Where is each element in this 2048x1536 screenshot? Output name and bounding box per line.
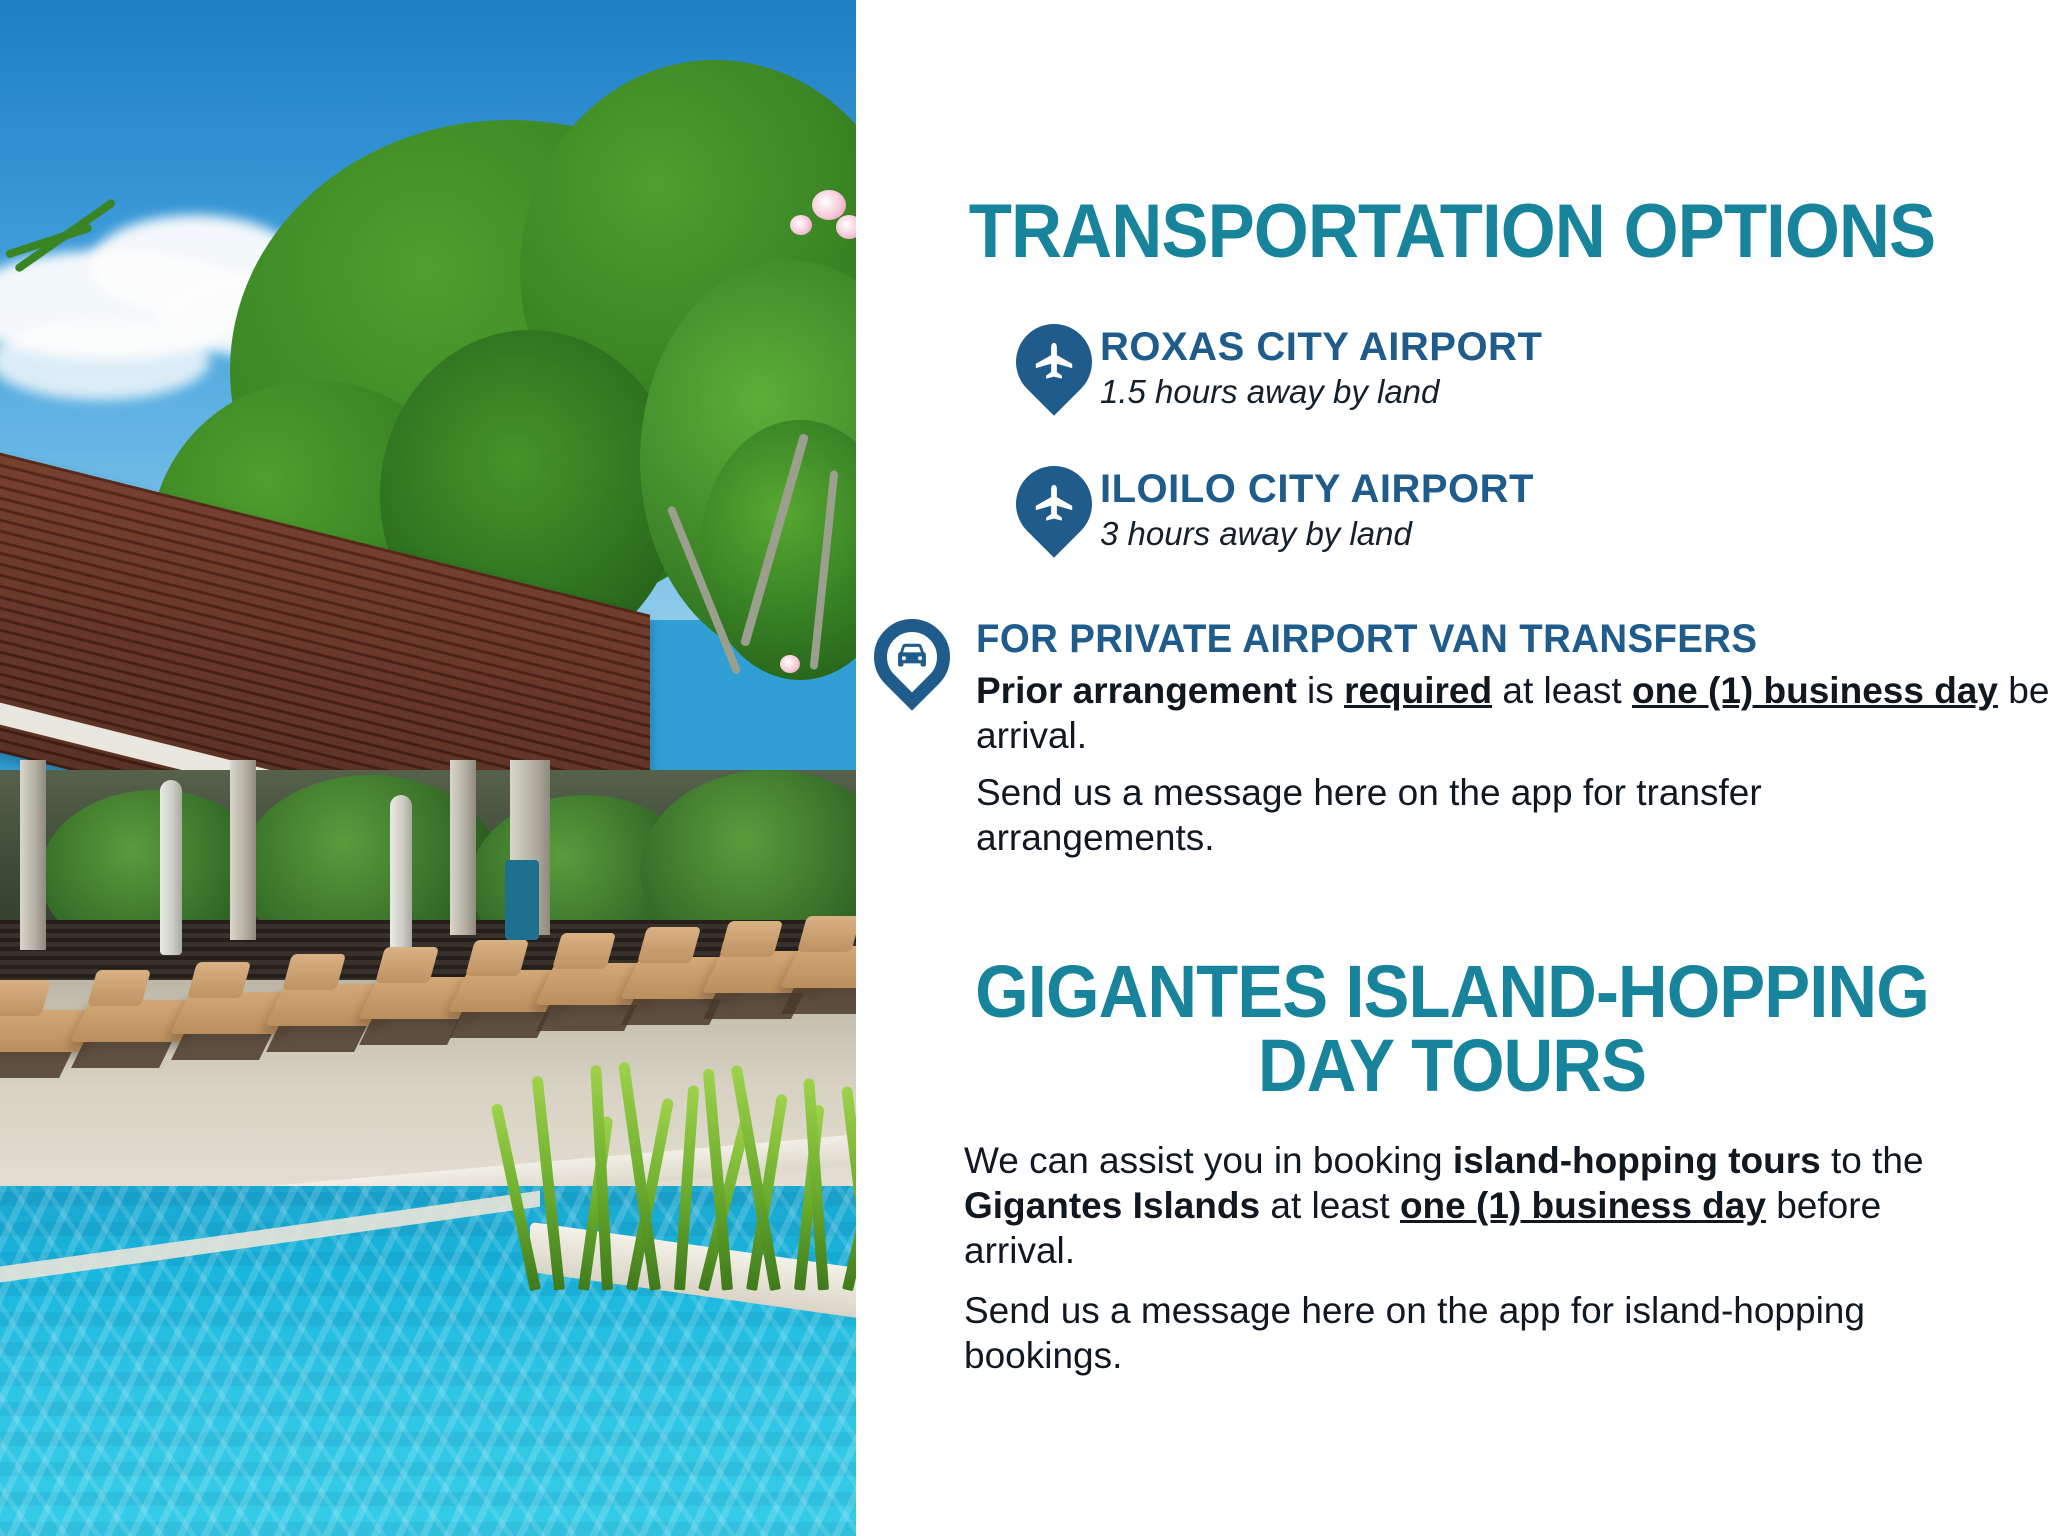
island-hopping-title-line-2: DAY TOURS [898, 1029, 2007, 1103]
transport-item-roxas: ROXAS CITY AIRPORT 1.5 hours away by lan… [1008, 322, 2048, 412]
van-body-bold-1: Prior arrangement [976, 670, 1297, 711]
page-title-transportation: TRANSPORTATION OPTIONS [898, 194, 2007, 270]
slide-root: TRANSPORTATION OPTIONS ROXAS CITY AIRPOR… [0, 0, 2048, 1536]
content-panel: TRANSPORTATION OPTIONS ROXAS CITY AIRPOR… [856, 0, 2048, 1536]
van-transfer-body: Prior arrangement is required at least o… [976, 668, 2048, 758]
giga-bold-islands: Gigantes Islands [964, 1185, 1260, 1226]
van-transfer-text: FOR PRIVATE AIRPORT VAN TRANSFERS Prior … [958, 617, 2048, 758]
closed-umbrella [160, 780, 182, 955]
island-hopping-body: We can assist you in booking island-hopp… [964, 1138, 1974, 1273]
giga-one-business-day: one (1) business day [1400, 1185, 1766, 1226]
van-body-plain-2: at least [1492, 670, 1632, 711]
island-hopping-note: Send us a message here on the app for is… [964, 1288, 1974, 1378]
airport-detail: 1.5 hours away by land [1100, 372, 1542, 412]
transportation-list: ROXAS CITY AIRPORT 1.5 hours away by lan… [1008, 322, 2048, 607]
page-title-island-hopping: GIGANTES ISLAND-HOPPING DAY TOURS [898, 955, 2007, 1103]
van-body-required: required [1344, 670, 1492, 711]
transport-item-text: ROXAS CITY AIRPORT 1.5 hours away by lan… [1100, 322, 1542, 412]
airport-detail: 3 hours away by land [1100, 514, 1534, 554]
airplane-pin-icon [1008, 464, 1100, 542]
van-transfer-heading: FOR PRIVATE AIRPORT VAN TRANSFERS [976, 617, 2048, 662]
giga-bold-tours: island-hopping tours [1453, 1140, 1821, 1181]
closed-umbrella [390, 795, 412, 960]
van-transfer-note: Send us a message here on the app for tr… [976, 770, 1896, 860]
van-body-one-business-day: one (1) business day [1632, 670, 1998, 711]
column [450, 760, 476, 935]
giga-plain-3: at least [1260, 1185, 1400, 1226]
airplane-pin-icon [1008, 322, 1100, 400]
van-body-plain-1: is [1297, 670, 1344, 711]
flower [790, 215, 812, 235]
lifeguard-chair [505, 860, 539, 940]
airport-name: ROXAS CITY AIRPORT [1100, 326, 1542, 368]
car-pin-icon [866, 617, 958, 723]
grass-planter [520, 1060, 856, 1290]
giga-plain-1: We can assist you in booking [964, 1140, 1453, 1181]
transport-item-text: ILOILO CITY AIRPORT 3 hours away by land [1100, 464, 1534, 554]
flower [812, 190, 846, 220]
cloud [0, 320, 210, 400]
flower [836, 215, 856, 239]
airport-name: ILOILO CITY AIRPORT [1100, 468, 1534, 510]
column [20, 760, 46, 950]
giga-plain-2: to the [1821, 1140, 1924, 1181]
van-transfer-block: FOR PRIVATE AIRPORT VAN TRANSFERS Prior … [866, 617, 2048, 758]
flower [780, 655, 800, 673]
island-hopping-title-line-1: GIGANTES ISLAND-HOPPING [898, 955, 2007, 1029]
column [230, 760, 256, 940]
resort-pool-photo [0, 0, 856, 1536]
transport-item-iloilo: ILOILO CITY AIRPORT 3 hours away by land [1008, 464, 2048, 554]
